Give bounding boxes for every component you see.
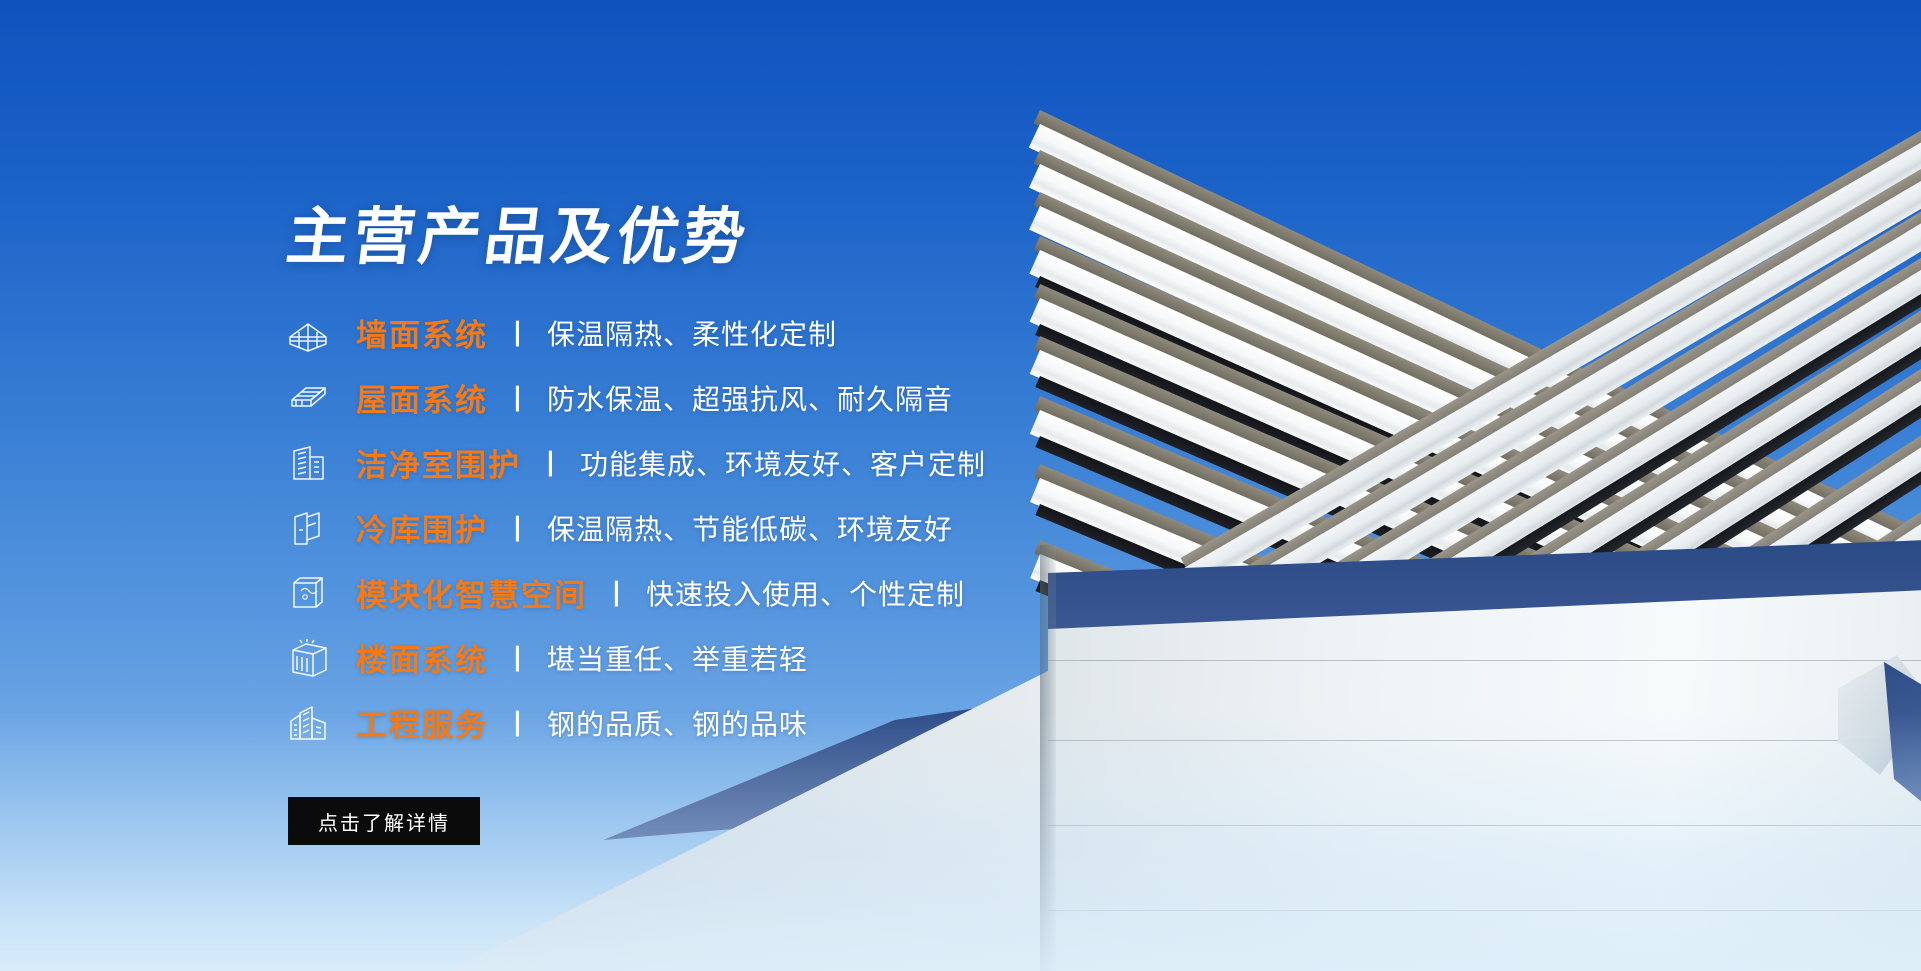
product-name: 工程服务	[356, 700, 488, 745]
hero-banner: 主营产品及优势 墙面系统丨保温隔热、柔性化定制屋面系统丨防水保温、超强抗风、耐久…	[0, 0, 1921, 971]
product-separator: 丨	[504, 508, 531, 547]
product-name: 洁净室围护	[356, 440, 521, 485]
product-name: 屋面系统	[356, 375, 488, 420]
product-row[interactable]: 屋面系统丨防水保温、超强抗风、耐久隔音	[286, 365, 1386, 430]
product-separator: 丨	[504, 313, 531, 352]
roof-system-icon	[286, 376, 330, 420]
hero-content: 主营产品及优势 墙面系统丨保温隔热、柔性化定制屋面系统丨防水保温、超强抗风、耐久…	[0, 0, 1921, 971]
engineering-service-icon	[286, 701, 330, 745]
product-row[interactable]: 楼面系统丨堪当重任、举重若轻	[286, 625, 1386, 690]
product-separator: 丨	[504, 703, 531, 742]
product-name: 冷库围护	[356, 505, 488, 550]
product-row[interactable]: 洁净室围护丨功能集成、环境友好、客户定制	[286, 430, 1386, 495]
product-separator: 丨	[504, 378, 531, 417]
product-description: 快速投入使用、个性定制	[646, 573, 965, 613]
product-description: 保温隔热、柔性化定制	[547, 313, 837, 353]
coldstorage-icon	[286, 506, 330, 550]
product-separator: 丨	[504, 638, 531, 677]
product-description: 功能集成、环境友好、客户定制	[580, 443, 986, 483]
product-description: 堪当重任、举重若轻	[547, 638, 808, 678]
product-separator: 丨	[537, 443, 564, 482]
product-row[interactable]: 冷库围护丨保温隔热、节能低碳、环境友好	[286, 495, 1386, 560]
product-row[interactable]: 工程服务丨钢的品质、钢的品味	[286, 690, 1386, 755]
product-name: 楼面系统	[356, 635, 488, 680]
product-row[interactable]: 模块化智慧空间丨快速投入使用、个性定制	[286, 560, 1386, 625]
product-row[interactable]: 墙面系统丨保温隔热、柔性化定制	[286, 300, 1386, 365]
product-name: 墙面系统	[356, 310, 488, 355]
cleanroom-icon	[286, 441, 330, 485]
product-description: 防水保温、超强抗风、耐久隔音	[547, 378, 953, 418]
product-description: 钢的品质、钢的品味	[547, 703, 808, 743]
learn-more-button[interactable]: 点击了解详情	[288, 797, 480, 845]
floor-system-icon	[286, 636, 330, 680]
wall-system-icon	[286, 311, 330, 355]
modular-space-icon	[286, 571, 330, 615]
product-list: 墙面系统丨保温隔热、柔性化定制屋面系统丨防水保温、超强抗风、耐久隔音洁净室围护丨…	[286, 300, 1386, 755]
product-description: 保温隔热、节能低碳、环境友好	[547, 508, 953, 548]
page-title: 主营产品及优势	[283, 206, 753, 268]
product-name: 模块化智慧空间	[356, 570, 587, 615]
product-separator: 丨	[603, 573, 630, 612]
